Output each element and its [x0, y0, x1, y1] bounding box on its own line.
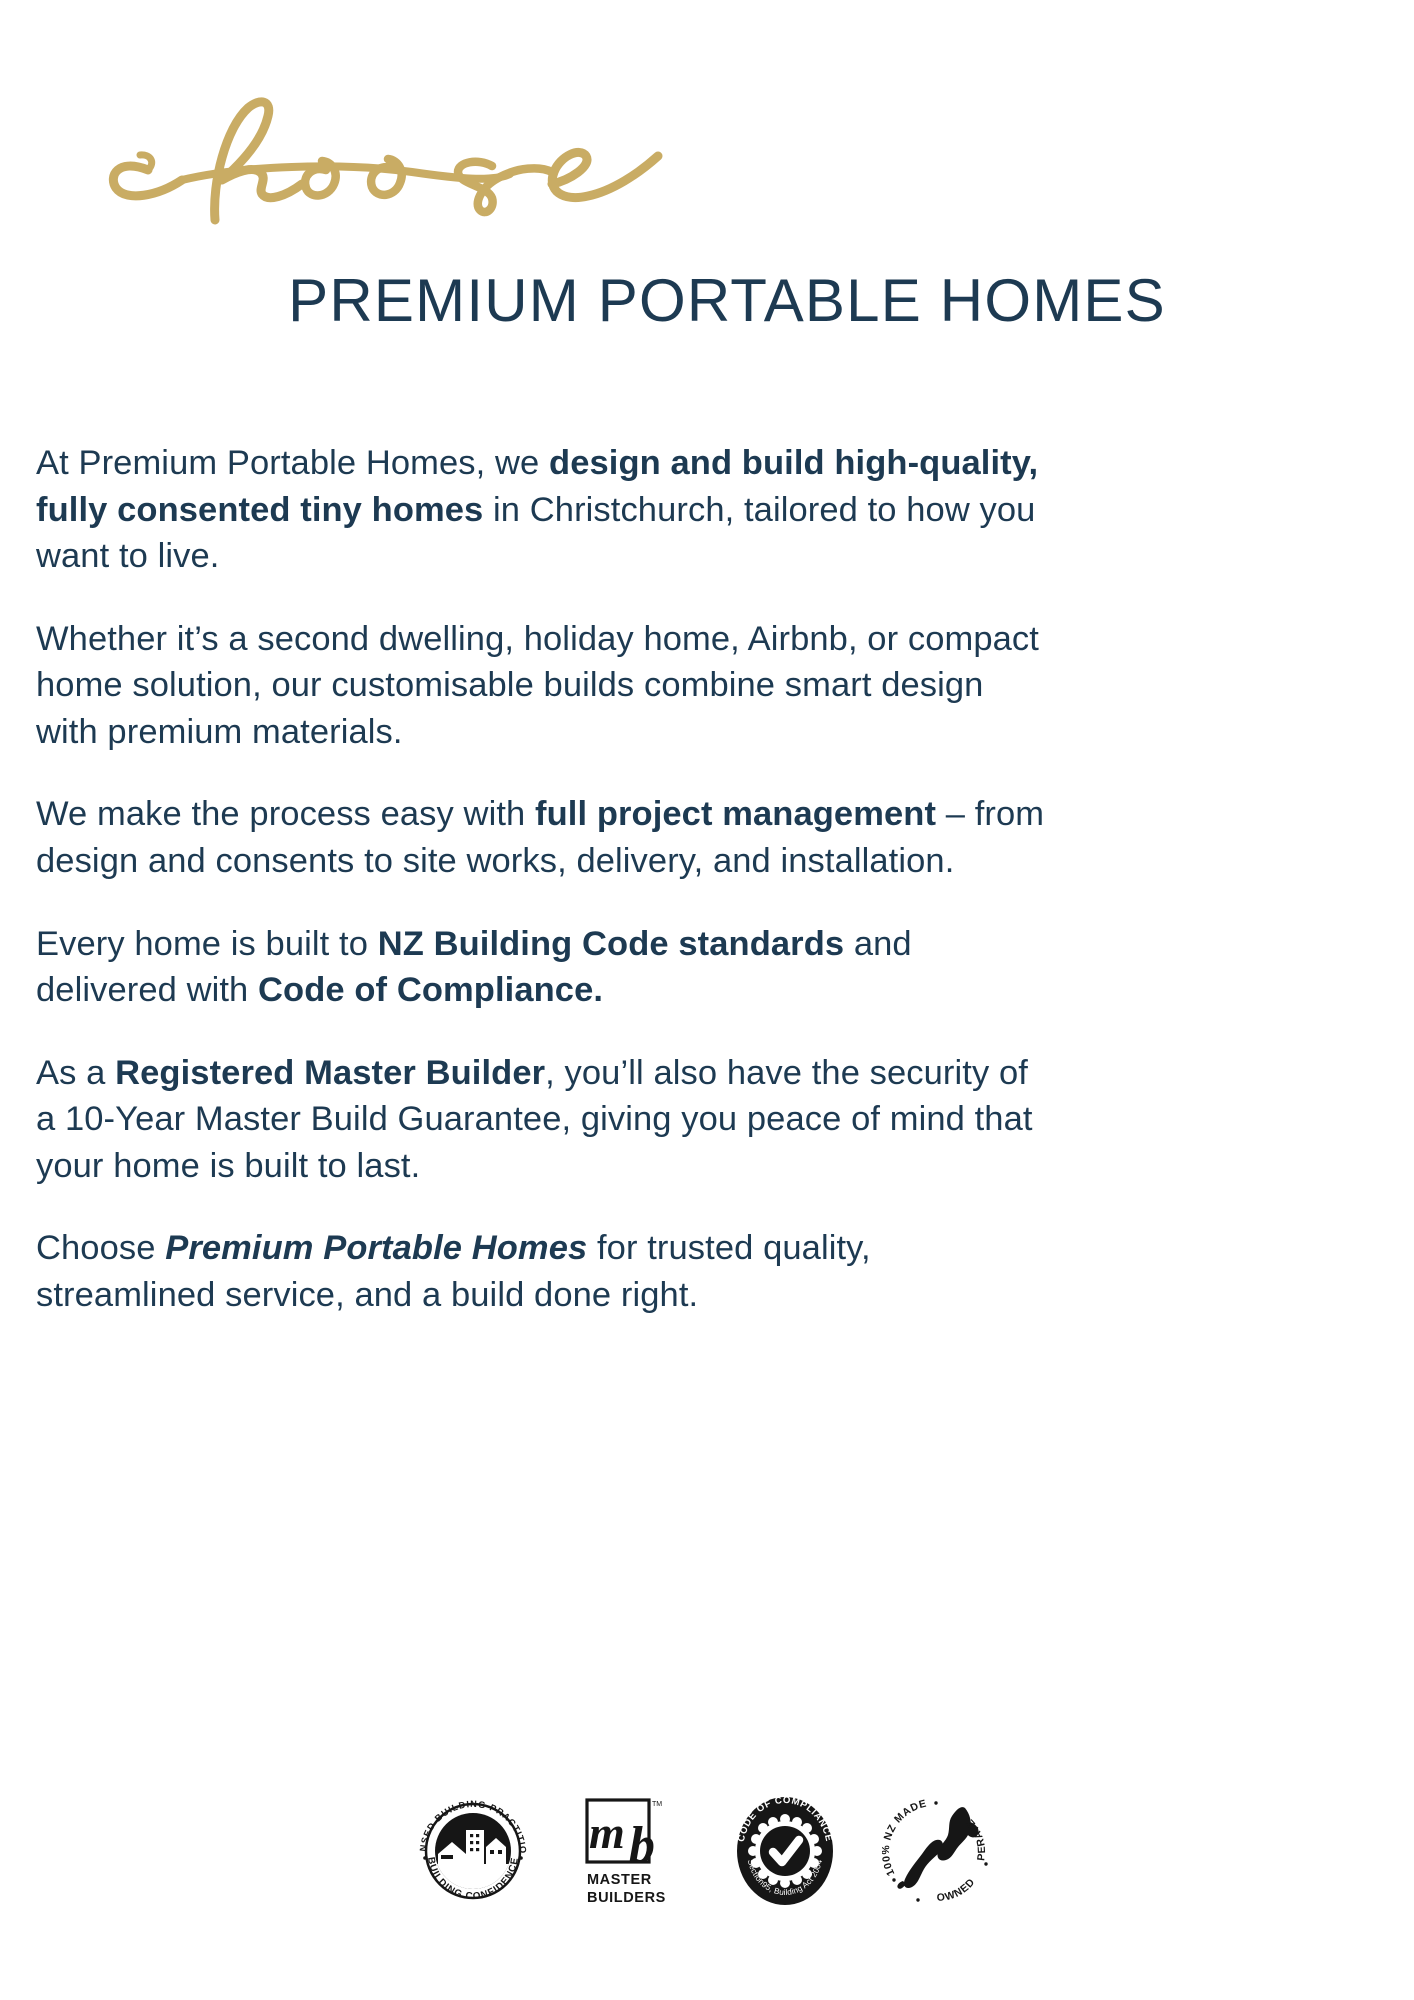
page-title: PREMIUM PORTABLE HOMES [0, 268, 1414, 334]
paragraph-intro: At Premium Portable Homes, we design and… [36, 440, 1046, 580]
badge-nz-made: 100% NZ MADE OWNED OPERATED [881, 1790, 1001, 1912]
badge-licensed-building-practitioner: LICENSED BUILDING PRACTITIONER BUILDING … [413, 1790, 533, 1912]
text-run-bold: NZ Building Code standards [378, 925, 844, 963]
text-run-bold-italic: Premium Portable Homes [165, 1229, 587, 1267]
paragraph-master-builder: As a Registered Master Builder, you’ll a… [36, 1050, 1046, 1190]
master-builders-monogram-b: b [629, 1817, 655, 1874]
text-run: Choose [36, 1229, 165, 1267]
text-run: We make the process easy with [36, 795, 535, 833]
paragraph-closing: Choose Premium Portable Homes for truste… [36, 1225, 1046, 1318]
text-run: As a [36, 1054, 115, 1092]
code-of-compliance-seal-icon: CODE OF COMPLIANCE Section95, Building A… [729, 1790, 841, 1912]
master-builders-line2: BUILDERS [587, 1890, 666, 1906]
trademark-symbol: TM [652, 1801, 662, 1808]
poster-page: choose PREMIUM PORTABLE HOMES [0, 0, 1414, 2000]
choose-script-wordmark: choose [40, 62, 680, 212]
text-run: Every home is built to [36, 925, 378, 963]
master-builders-line1: MASTER [587, 1872, 652, 1888]
svg-text:OWNED: OWNED [936, 1876, 977, 1904]
master-builders-logo-icon: m b TM MASTER BUILDERS [573, 1792, 685, 1910]
paragraph-building-code: Every home is built to NZ Building Code … [36, 921, 1046, 1014]
paragraph-use-cases: Whether it’s a second dwelling, holiday … [36, 616, 1046, 756]
nz-made-badge-icon: 100% NZ MADE OWNED OPERATED [882, 1792, 1000, 1910]
badge-code-of-compliance: CODE OF COMPLIANCE Section95, Building A… [725, 1790, 845, 1912]
master-builders-monogram-m: m [589, 1807, 625, 1858]
text-run-bold: Registered Master Builder [115, 1054, 545, 1092]
north-island-shape [937, 1807, 970, 1860]
accreditation-badge-row: LICENSED BUILDING PRACTITIONER BUILDING … [0, 1790, 1414, 1912]
text-run: Whether it’s a second dwelling, holiday … [36, 620, 1039, 751]
south-island-shape [904, 1840, 943, 1888]
nz-bottom-text: OWNED [936, 1876, 977, 1904]
body-copy: At Premium Portable Homes, we design and… [36, 440, 1046, 1318]
text-run-bold: full project management [535, 795, 936, 833]
lbp-badge-icon: LICENSED BUILDING PRACTITIONER BUILDING … [414, 1792, 532, 1910]
paragraph-project-management: We make the process easy with full proje… [36, 791, 1046, 884]
text-run-bold: Code of Compliance. [258, 971, 603, 1009]
badge-master-builders: m b TM MASTER BUILDERS [569, 1790, 689, 1912]
text-run: At Premium Portable Homes, we [36, 444, 549, 482]
